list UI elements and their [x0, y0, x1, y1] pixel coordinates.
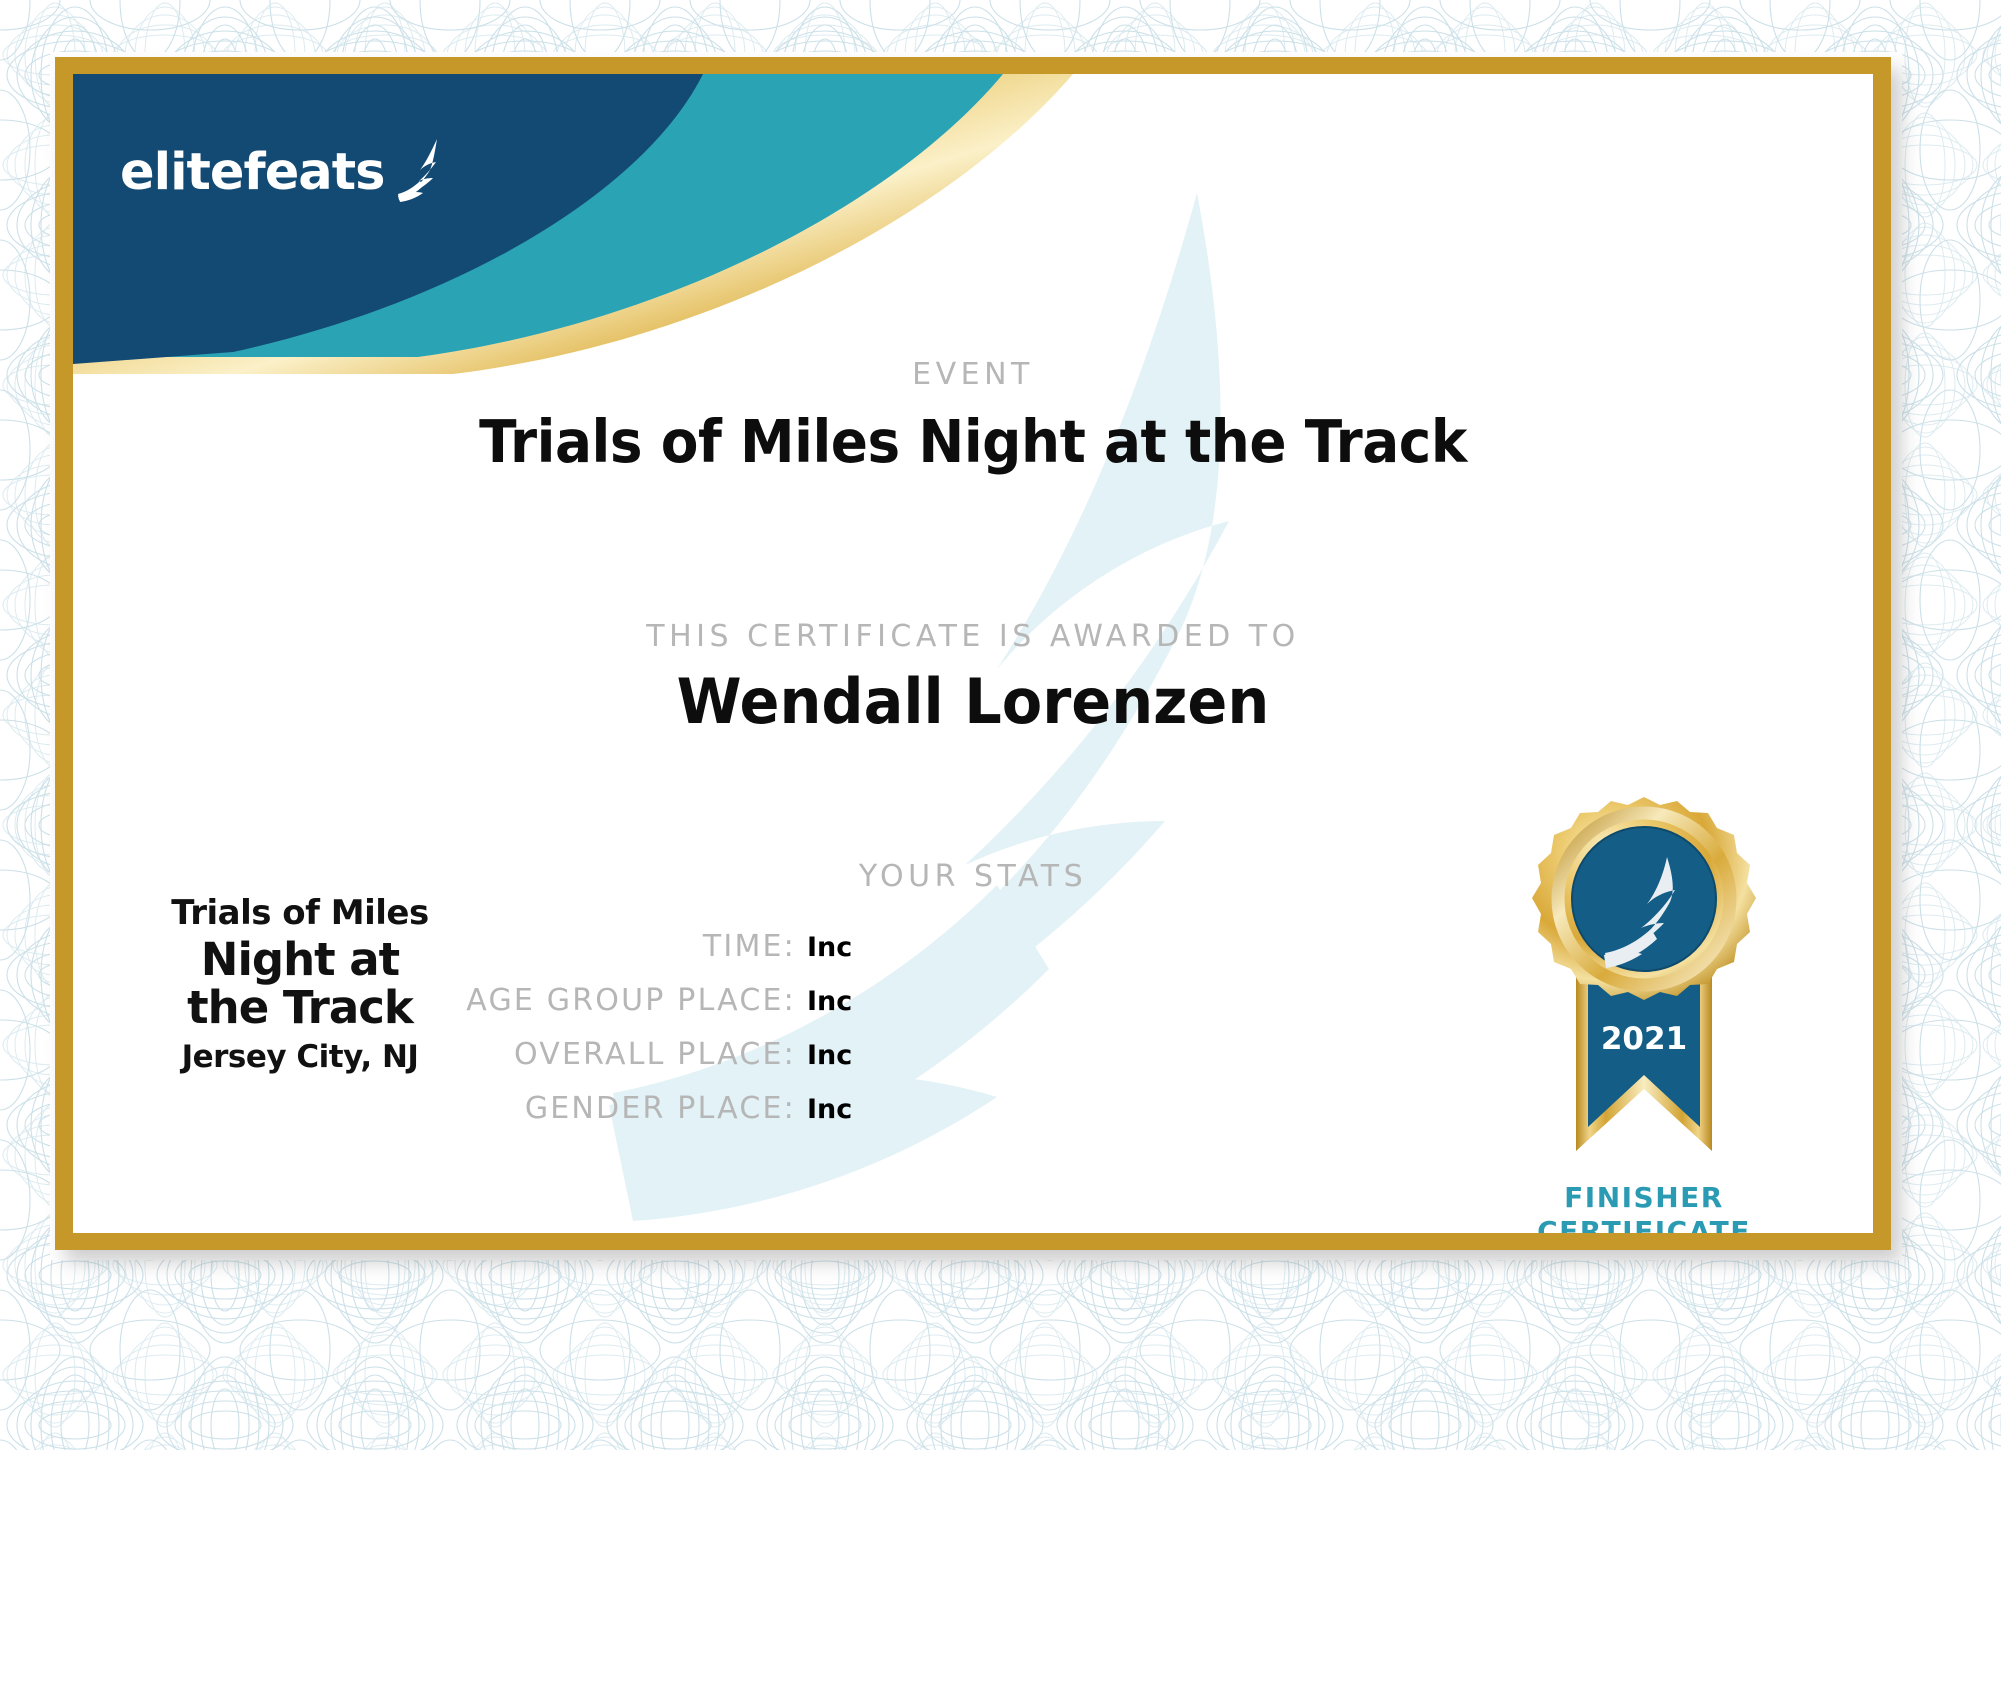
event-logo-location: Jersey City, NJ [155, 1039, 445, 1075]
stat-value: Inc [807, 1040, 863, 1071]
awarded-to-label: THIS CERTIFICATE IS AWARDED TO [73, 619, 1873, 654]
event-title: Trials of Miles Night at the Track [136, 407, 1810, 476]
finisher-certificate-caption: FINISHER CERTIFICATE [1499, 1181, 1789, 1233]
stat-value: Inc [807, 1094, 863, 1125]
header-swoosh-decoration [73, 74, 1873, 374]
event-logo-line-1: Trials of Miles [155, 894, 445, 932]
stat-row: TIME: Inc [403, 929, 863, 983]
medal-icon: 2021 [1514, 789, 1774, 1179]
event-logo-block: Trials of Miles Night at the Track Jerse… [155, 894, 445, 1075]
event-label: EVENT [73, 357, 1873, 392]
stat-row: AGE GROUP PLACE: Inc [403, 983, 863, 1037]
stat-label: GENDER PLACE: [525, 1091, 796, 1126]
caption-line-2: CERTIFICATE [1499, 1215, 1789, 1233]
certificate-inner: elitefeats EVENT Trials of Miles Night a… [73, 74, 1873, 1233]
stat-label: TIME: [703, 929, 796, 964]
recipient-name: Wendall Lorenzen [118, 665, 1828, 738]
medal-disc [1532, 797, 1756, 1000]
stat-value: Inc [807, 986, 863, 1017]
event-logo-line-2: Night at [155, 936, 445, 984]
event-logo-line-3: the Track [155, 984, 445, 1032]
finisher-medal-badge: 2021 [1499, 789, 1789, 1233]
stat-label: OVERALL PLACE: [514, 1037, 796, 1072]
brand-logo: elitefeats [120, 136, 450, 208]
medal-year: 2021 [1601, 1021, 1687, 1057]
stats-list: TIME: Inc AGE GROUP PLACE: Inc OVERALL P… [403, 929, 863, 1145]
stat-value: Inc [807, 932, 863, 963]
stat-row: GENDER PLACE: Inc [403, 1091, 863, 1145]
caption-line-1: FINISHER [1499, 1181, 1789, 1215]
stat-row: OVERALL PLACE: Inc [403, 1037, 863, 1091]
brand-name: elitefeats [120, 147, 384, 198]
winged-foot-icon [390, 136, 450, 208]
stat-label: AGE GROUP PLACE: [466, 983, 796, 1018]
certificate-card: elitefeats EVENT Trials of Miles Night a… [55, 57, 1891, 1250]
